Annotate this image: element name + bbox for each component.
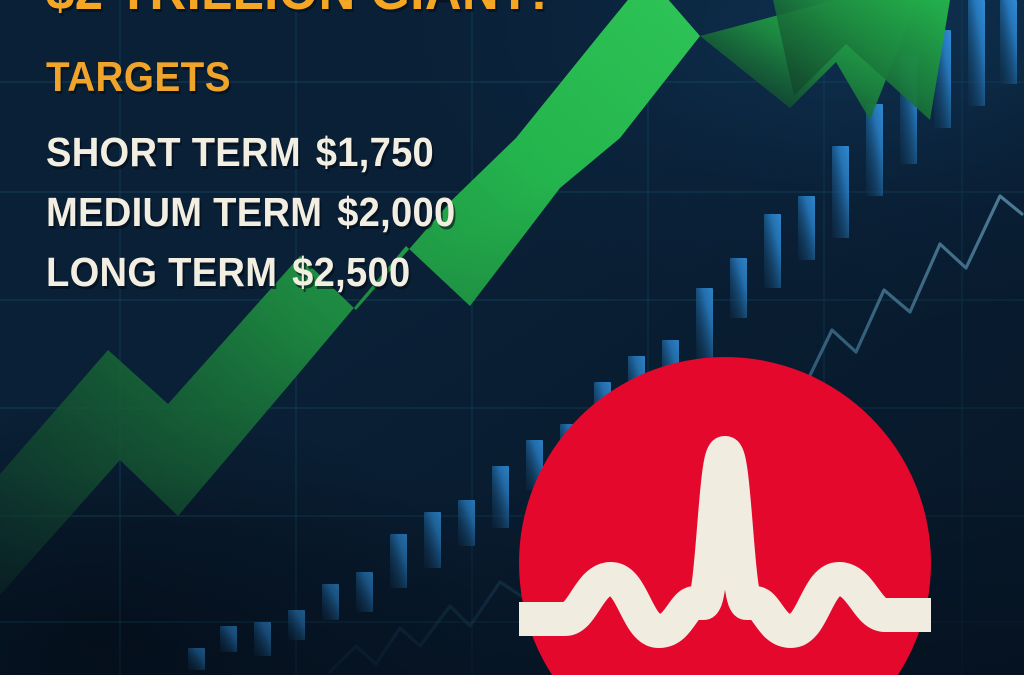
target-row-medium: MEDIUM TERM$2,000 <box>46 182 455 242</box>
infographic-poster: $2 TRILLION GIANT! TARGETS SHORT TERM$1,… <box>0 0 1024 675</box>
target-row-short: SHORT TERM$1,750 <box>46 122 455 182</box>
target-price-value: $1,750 <box>316 129 434 175</box>
targets-list: SHORT TERM$1,750 MEDIUM TERM$2,000 LONG … <box>46 122 486 302</box>
target-price-value: $2,000 <box>337 189 455 235</box>
target-term-label: MEDIUM TERM <box>46 189 322 235</box>
page-title: $2 TRILLION GIANT! <box>46 0 548 18</box>
target-term-label: SHORT TERM <box>46 129 301 175</box>
target-price-value: $2,500 <box>292 249 410 295</box>
target-term-label: LONG TERM <box>46 249 277 295</box>
pulse-wave-logo <box>519 357 931 675</box>
target-row-long: LONG TERM$2,500 <box>46 242 455 302</box>
section-label: TARGETS <box>46 56 231 98</box>
